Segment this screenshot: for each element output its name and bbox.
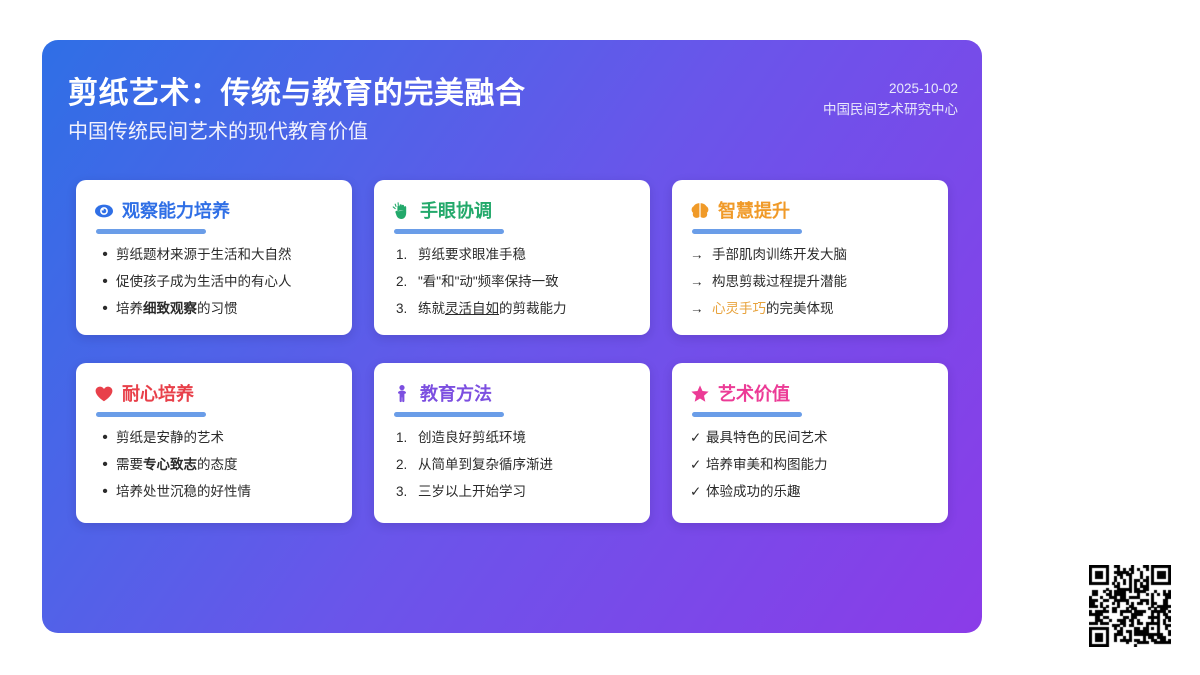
list-item: →手部肌肉训练开发大脑: [690, 246, 930, 264]
card-header: 艺术价值: [690, 381, 930, 407]
card-header: 耐心培养: [94, 381, 334, 407]
list-item: •培养处世沉稳的好性情: [94, 483, 334, 501]
list-item-text: 培养审美和构图能力: [706, 456, 930, 474]
text-span: 剪纸要求眼准手稳: [418, 247, 526, 262]
list-item: 3.练就灵活自如的剪裁能力: [392, 300, 632, 318]
list-item: →心灵手巧的完美体现: [690, 300, 930, 318]
eye-icon: [94, 201, 114, 221]
card-title: 手眼协调: [420, 199, 492, 223]
list-item-text: 心灵手巧的完美体现: [712, 300, 930, 318]
text-span: 练就: [418, 301, 445, 316]
list-item: 3.三岁以上开始学习: [392, 483, 632, 501]
list-item-text: 最具特色的民间艺术: [706, 429, 930, 447]
organization-label: 中国民间艺术研究中心: [823, 99, 958, 120]
text-span: 构思剪裁过程提升潜能: [712, 274, 847, 289]
list-item-text: 需要专心致志的态度: [116, 456, 334, 474]
list-marker: •: [94, 300, 116, 317]
list-item-text: 三岁以上开始学习: [418, 483, 632, 501]
list-marker: →: [690, 246, 712, 264]
list-item: •培养细致观察的习惯: [94, 300, 334, 318]
text-span: 专心致志: [143, 457, 197, 472]
list-item-text: 剪纸是安静的艺术: [116, 429, 334, 447]
qr-code-canvas: [1089, 565, 1171, 647]
text-span: 的剪裁能力: [499, 301, 567, 316]
heart-icon: [94, 384, 114, 404]
card-header: 手眼协调: [392, 198, 632, 224]
list-item-text: 剪纸要求眼准手稳: [418, 246, 632, 264]
person-icon: [392, 384, 412, 404]
card-list: 1.剪纸要求眼准手稳2."看"和"动"频率保持一致3.练就灵活自如的剪裁能力: [392, 246, 632, 318]
card-observation: 观察能力培养•剪纸题材来源于生活和大自然•促使孩子成为生活中的有心人•培养细致观…: [76, 180, 352, 335]
slide-header: 剪纸艺术：传统与教育的完美融合 中国传统民间艺术的现代教育价值 2025-10-…: [42, 40, 982, 152]
card-education-method: 教育方法1.创造良好剪纸环境2.从简单到复杂循序渐进3.三岁以上开始学习: [374, 363, 650, 523]
text-span: 三岁以上开始学习: [418, 484, 526, 499]
text-span: 的态度: [197, 457, 238, 472]
list-marker: •: [94, 483, 116, 500]
card-hand-eye: 手眼协调1.剪纸要求眼准手稳2."看"和"动"频率保持一致3.练就灵活自如的剪裁…: [374, 180, 650, 335]
text-span: 促使孩子成为生活中的有心人: [116, 274, 292, 289]
card-header: 教育方法: [392, 381, 632, 407]
text-span: 培养: [116, 301, 143, 316]
list-item: ✓体验成功的乐趣: [690, 483, 930, 501]
card-list: •剪纸是安静的艺术•需要专心致志的态度•培养处世沉稳的好性情: [94, 429, 334, 501]
text-span: 培养处世沉稳的好性情: [116, 484, 251, 499]
card-grid: 观察能力培养•剪纸题材来源于生活和大自然•促使孩子成为生活中的有心人•培养细致观…: [76, 180, 948, 523]
list-item-text: 从简单到复杂循序渐进: [418, 456, 632, 474]
text-span: 需要: [116, 457, 143, 472]
list-item-text: 构思剪裁过程提升潜能: [712, 273, 930, 291]
list-marker: •: [94, 246, 116, 263]
card-header: 智慧提升: [690, 198, 930, 224]
page-title: 剪纸艺术：传统与教育的完美融合: [68, 74, 526, 114]
text-span: "看"和"动"频率保持一致: [418, 274, 559, 289]
list-marker: 2.: [392, 273, 418, 291]
text-span: 剪纸题材来源于生活和大自然: [116, 247, 292, 262]
list-marker: 1.: [392, 246, 418, 264]
list-item-text: 手部肌肉训练开发大脑: [712, 246, 930, 264]
card-artistic-value: 艺术价值✓最具特色的民间艺术✓培养审美和构图能力✓体验成功的乐趣: [672, 363, 948, 523]
list-item: 2.从简单到复杂循序渐进: [392, 456, 632, 474]
brain-icon: [690, 201, 710, 221]
list-marker: →: [690, 273, 712, 291]
card-title: 观察能力培养: [122, 199, 230, 223]
list-item-text: 促使孩子成为生活中的有心人: [116, 273, 334, 291]
slide-panel: 剪纸艺术：传统与教育的完美融合 中国传统民间艺术的现代教育价值 2025-10-…: [42, 40, 982, 633]
star-icon: [690, 384, 710, 404]
list-marker: •: [94, 456, 116, 473]
card-list: 1.创造良好剪纸环境2.从简单到复杂循序渐进3.三岁以上开始学习: [392, 429, 632, 501]
list-marker: 1.: [392, 429, 418, 447]
card-header: 观察能力培养: [94, 198, 334, 224]
list-item: •剪纸题材来源于生活和大自然: [94, 246, 334, 264]
list-marker: ✓: [690, 456, 706, 474]
card-list: →手部肌肉训练开发大脑→构思剪裁过程提升潜能→心灵手巧的完美体现: [690, 246, 930, 318]
card-title: 教育方法: [420, 382, 492, 406]
card-title: 智慧提升: [718, 199, 790, 223]
card-title-underline: [96, 229, 206, 234]
list-item: ✓培养审美和构图能力: [690, 456, 930, 474]
header-meta: 2025-10-02 中国民间艺术研究中心: [823, 78, 958, 120]
list-marker: •: [94, 429, 116, 446]
text-span: 心灵手巧: [712, 301, 766, 316]
list-item-text: 剪纸题材来源于生活和大自然: [116, 246, 334, 264]
list-item: •需要专心致志的态度: [94, 456, 334, 474]
list-marker: 3.: [392, 300, 418, 318]
list-item: →构思剪裁过程提升潜能: [690, 273, 930, 291]
list-marker: •: [94, 273, 116, 290]
list-item: •促使孩子成为生活中的有心人: [94, 273, 334, 291]
list-item-text: 练就灵活自如的剪裁能力: [418, 300, 632, 318]
card-intelligence: 智慧提升→手部肌肉训练开发大脑→构思剪裁过程提升潜能→心灵手巧的完美体现: [672, 180, 948, 335]
text-span: 的习惯: [197, 301, 238, 316]
text-span: 手部肌肉训练开发大脑: [712, 247, 847, 262]
card-list: •剪纸题材来源于生活和大自然•促使孩子成为生活中的有心人•培养细致观察的习惯: [94, 246, 334, 318]
text-span: 从简单到复杂循序渐进: [418, 457, 553, 472]
text-span: 剪纸是安静的艺术: [116, 430, 224, 445]
list-marker: ✓: [690, 483, 706, 501]
card-patience: 耐心培养•剪纸是安静的艺术•需要专心致志的态度•培养处世沉稳的好性情: [76, 363, 352, 523]
list-marker: →: [690, 300, 712, 318]
list-item: 2."看"和"动"频率保持一致: [392, 273, 632, 291]
list-marker: 2.: [392, 456, 418, 474]
list-marker: 3.: [392, 483, 418, 501]
list-marker: ✓: [690, 429, 706, 447]
card-title-underline: [96, 412, 206, 417]
text-span: 的完美体现: [766, 301, 834, 316]
card-title-underline: [692, 412, 802, 417]
text-span: 培养审美和构图能力: [706, 457, 828, 472]
list-item-text: 体验成功的乐趣: [706, 483, 930, 501]
page-subtitle: 中国传统民间艺术的现代教育价值: [68, 117, 526, 147]
list-item: 1.创造良好剪纸环境: [392, 429, 632, 447]
text-span: 体验成功的乐趣: [706, 484, 801, 499]
date-label: 2025-10-02: [823, 78, 958, 99]
qr-code[interactable]: [1089, 565, 1171, 647]
list-item-text: 培养处世沉稳的好性情: [116, 483, 334, 501]
list-item: •剪纸是安静的艺术: [94, 429, 334, 447]
list-item-text: 创造良好剪纸环境: [418, 429, 632, 447]
text-span: 灵活自如: [445, 301, 499, 316]
card-title: 艺术价值: [718, 382, 790, 406]
text-span: 创造良好剪纸环境: [418, 430, 526, 445]
hand-icon: [392, 201, 412, 221]
text-span: 细致观察: [143, 301, 197, 316]
card-title: 耐心培养: [122, 382, 194, 406]
card-title-underline: [394, 229, 504, 234]
card-title-underline: [692, 229, 802, 234]
card-list: ✓最具特色的民间艺术✓培养审美和构图能力✓体验成功的乐趣: [690, 429, 930, 501]
title-block: 剪纸艺术：传统与教育的完美融合 中国传统民间艺术的现代教育价值: [68, 74, 526, 147]
list-item: ✓最具特色的民间艺术: [690, 429, 930, 447]
text-span: 最具特色的民间艺术: [706, 430, 828, 445]
list-item: 1.剪纸要求眼准手稳: [392, 246, 632, 264]
list-item-text: 培养细致观察的习惯: [116, 300, 334, 318]
card-title-underline: [394, 412, 504, 417]
list-item-text: "看"和"动"频率保持一致: [418, 273, 632, 291]
